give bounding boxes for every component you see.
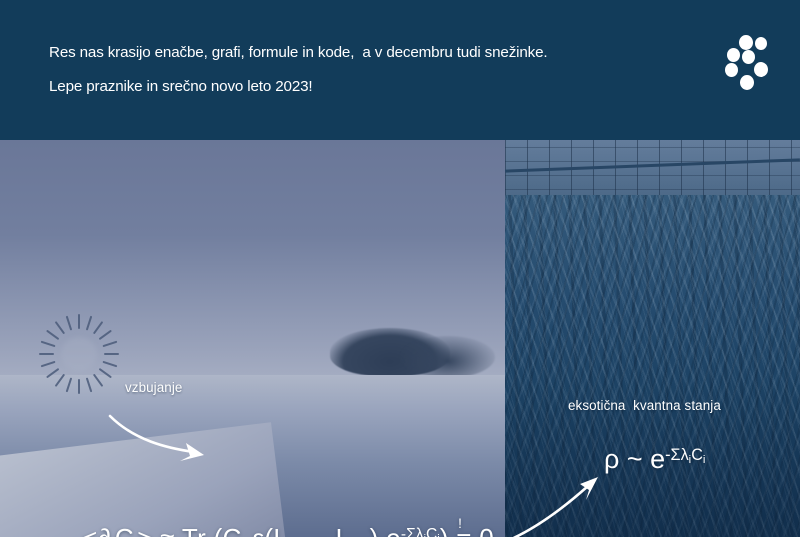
sun-ray (66, 377, 73, 392)
eq-exp-c: C (426, 526, 437, 537)
sun-ray (104, 353, 119, 355)
photo-strip: vzbujanje izgube eksotična kvantna stanj… (0, 140, 800, 537)
eq-tail: ) (440, 523, 449, 537)
sun-ray (41, 341, 56, 348)
greenhouse-photo (0, 140, 505, 537)
eq-lhs-open: <∂ (82, 523, 111, 537)
sun-ray (39, 353, 54, 355)
greeting-line-2: Lepe praznike in srečno novo leto 2023! (49, 70, 669, 104)
rho-exp-sub-i2: i (703, 454, 706, 466)
sun-ray (99, 330, 112, 340)
sun-ray (99, 368, 112, 378)
eq-close-paren: ) e (370, 523, 401, 537)
main-equation: <∂tCi> ≈ Tr (Ci ε(Lvzb - Lizg) e-ΣλjCj) … (82, 525, 494, 537)
sun-ray (41, 361, 56, 368)
logo-dot (739, 35, 753, 50)
logo-dot (725, 63, 738, 77)
sun-ray (46, 368, 59, 378)
sun-ray (102, 361, 117, 368)
logo-dot (754, 62, 768, 77)
logo-dot (755, 37, 767, 50)
logo-dot (742, 50, 755, 64)
arrow-vzbujanje (108, 398, 218, 458)
sun-ray (102, 341, 117, 348)
eq-epsilon: ε(L (245, 523, 288, 537)
label-eksoticna-kvantna-stanja: eksotična kvantna stanja (568, 398, 721, 413)
greeting-card: Res nas krasijo enačbe, grafi, formule i… (0, 0, 800, 537)
sun-ray (55, 374, 65, 387)
sun-ray (86, 377, 93, 392)
rho-symbol: ρ (604, 444, 619, 474)
eq-lhs-c: C (115, 523, 134, 537)
sun-rays-icon (33, 312, 125, 396)
logo-dot (727, 48, 740, 62)
sun-ray (46, 330, 59, 340)
eq-bang: ! (458, 517, 462, 531)
label-vzbujanje: vzbujanje (125, 380, 182, 395)
eq-minus: - L (312, 523, 351, 537)
sun-ray (66, 316, 73, 331)
greeting-text-block: Res nas krasijo enačbe, grafi, formule i… (49, 36, 669, 104)
dot-cluster-logo (718, 30, 778, 92)
rho-e: e (650, 444, 665, 474)
eq-lhs-close: > (137, 523, 152, 537)
rho-equation: ρ ~ e-ΣλiCi (604, 446, 705, 473)
sun-ray (86, 316, 93, 331)
arrow-to-rho (492, 468, 632, 537)
greenhouse-structure (0, 372, 505, 537)
sun-core (61, 337, 97, 371)
sun-ray (93, 321, 103, 334)
logo-dot (740, 75, 754, 90)
rho-exp-minus: -Σλ (665, 446, 689, 464)
sun-ray (78, 314, 80, 329)
eq-trace: Tr (C (182, 523, 242, 537)
rho-tilde: ~ (619, 444, 650, 474)
eq-exponent: -ΣλjCj (401, 526, 440, 537)
eq-equals-with-bang: != (449, 525, 472, 537)
sun-ray (93, 374, 103, 387)
sun-ray (55, 321, 65, 334)
rho-exp-c: C (691, 446, 703, 464)
sun-ray (78, 379, 80, 394)
eq-exp-minus: -Σλ (401, 526, 424, 537)
header-banner: Res nas krasijo enačbe, grafi, formule i… (0, 0, 800, 140)
rho-exponent: -ΣλiCi (665, 446, 705, 464)
eq-zero: 0 (472, 523, 494, 537)
eq-approx: ≈ (153, 523, 182, 537)
greeting-line-1: Res nas krasijo enačbe, grafi, formule i… (49, 36, 669, 70)
